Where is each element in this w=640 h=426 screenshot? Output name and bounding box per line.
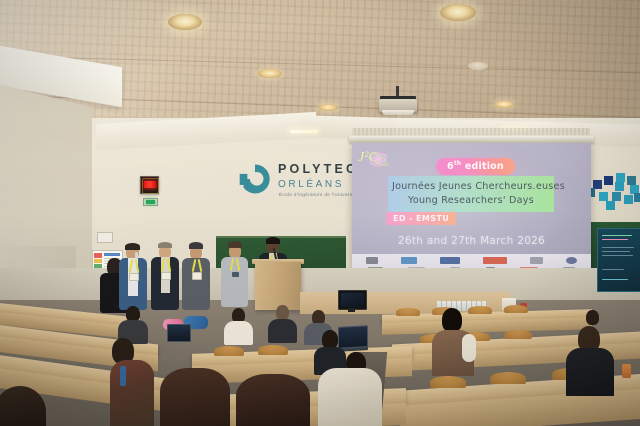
downlight <box>440 4 476 21</box>
jjc-logo: J²C JJC <box>358 149 392 169</box>
monitor-stand <box>348 308 355 312</box>
ceiling-vent <box>468 62 488 70</box>
doctoral-school-badge: ED - EMSTU <box>386 212 456 225</box>
polytech-orleans-logo: POLYTECH ORLÉANS École d'ingénieurs de l… <box>238 160 358 212</box>
seat[interactable] <box>504 305 528 313</box>
sponsor-logo-ut <box>440 257 460 264</box>
projector-lens <box>382 110 414 115</box>
monitor-screen <box>341 293 364 307</box>
presenter-2-badge <box>161 272 171 280</box>
conference-poster <box>597 228 640 292</box>
seat[interactable] <box>490 372 526 384</box>
presenter-3-badge <box>192 272 202 280</box>
presenter-5-hair <box>266 237 280 244</box>
polytech-circle-mark <box>238 162 272 196</box>
sponsor-row-1 <box>355 257 588 264</box>
wall-mounted-box <box>97 232 113 243</box>
sponsor-logo-insa <box>483 257 507 264</box>
presenter-1-badge <box>129 273 139 281</box>
seat[interactable] <box>430 376 466 388</box>
audience-cream-coat <box>318 368 382 426</box>
presenter-2-hair <box>158 242 172 248</box>
projection-screen: J²C JJC 6th edition Journées Jeunes Cher… <box>352 143 591 279</box>
wall-air-vent <box>352 128 590 135</box>
downlight <box>258 69 282 78</box>
seat[interactable] <box>214 346 244 356</box>
sponsor-logo-ensi <box>566 257 577 264</box>
audience-dark-top <box>566 348 614 396</box>
downlight <box>168 14 202 30</box>
seat[interactable] <box>468 306 492 314</box>
seat[interactable] <box>396 308 420 316</box>
edition-suffix: edition <box>461 161 504 172</box>
presenter-4-phone <box>232 272 239 277</box>
sponsor-logo-brgm <box>401 257 417 264</box>
strip-light <box>290 130 318 133</box>
jjc-logo-caption: JJC <box>383 163 389 167</box>
presenter-3-hair <box>189 242 203 249</box>
slide-title-french: Journées Jeunes Chercheurs.euses <box>392 181 550 192</box>
fire-alarm-panel[interactable] <box>140 176 159 194</box>
edition-number: 6 <box>447 161 454 172</box>
slide-date: 26th and 27th March 2026 <box>352 235 591 247</box>
projection-screen-case <box>349 136 594 143</box>
downlight <box>494 101 514 108</box>
audience-head-foreground <box>236 374 310 426</box>
orange-item <box>622 364 631 378</box>
slide-title-english: Young Researchers' Days <box>392 195 550 206</box>
lecture-hall-photo: POLYTECH ORLÉANS École d'ingénieurs de l… <box>0 0 640 426</box>
fire-alarm-led <box>144 181 156 188</box>
wooden-lectern <box>255 262 301 310</box>
laptop-screen[interactable] <box>167 324 191 342</box>
handheld-microphone <box>135 252 138 259</box>
presenter-monitor <box>338 290 367 310</box>
presenter-1-hair <box>125 243 140 250</box>
audience-patterned-shirt <box>110 360 154 426</box>
emergency-exit-sign <box>143 198 158 206</box>
presenter-4-hair <box>228 241 242 248</box>
edition-badge: 6th edition <box>436 158 515 175</box>
sponsor-logo-cnrs <box>366 257 378 264</box>
seat[interactable] <box>504 330 532 339</box>
audience-head-foreground <box>160 368 230 426</box>
slide-title-band: Journées Jeunes Chercheurs.euses Young R… <box>388 176 554 212</box>
audience-lanyard <box>120 366 126 386</box>
exit-sign-glow <box>146 200 155 204</box>
wall-square-decoration <box>586 168 640 216</box>
polytech-campus: ORLÉANS <box>278 179 344 190</box>
audience-scarf <box>462 334 476 362</box>
sponsor-logo-univ <box>530 257 543 264</box>
downlight <box>318 104 338 111</box>
seat[interactable] <box>258 345 288 355</box>
